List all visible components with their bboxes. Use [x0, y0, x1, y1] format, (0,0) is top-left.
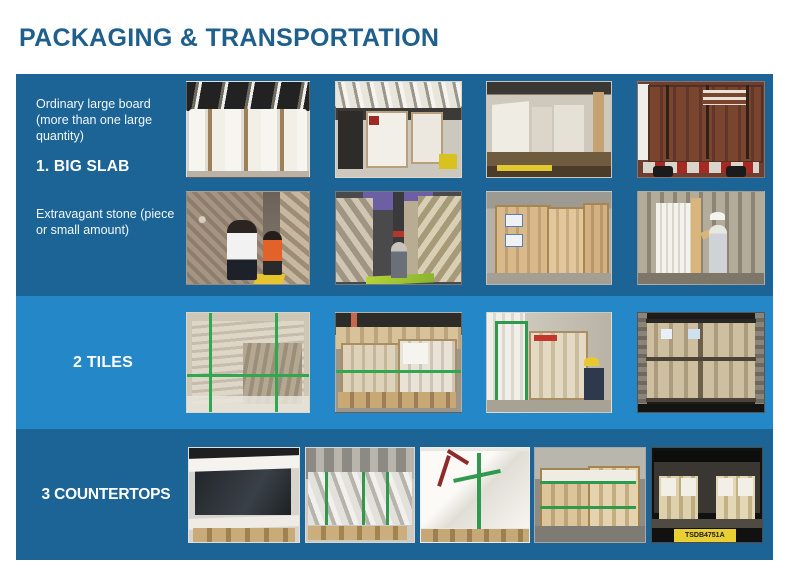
section-countertops: 3 COUNTERTOPS: [16, 429, 773, 560]
photo-row-countertops: TSDB4751A: [188, 429, 763, 560]
photo-container-loaded-countertops[interactable]: TSDB4751A: [651, 447, 763, 543]
photo-slabs-in-loading-shed[interactable]: [335, 81, 462, 178]
photo-container-rear-doors[interactable]: [637, 81, 765, 178]
photo-crated-tiles-pallets[interactable]: [335, 312, 462, 413]
page-title: PACKAGING & TRANSPORTATION: [19, 24, 439, 53]
big-slab-heading: 1. BIG SLAB: [36, 158, 178, 176]
photo-loading-slabs-container[interactable]: [637, 191, 765, 285]
countertops-heading: 3 COUNTERTOPS: [36, 486, 178, 504]
label-column-countertops: 3 COUNTERTOPS: [16, 429, 178, 560]
photo-row-tiles: [186, 296, 765, 429]
label-column-tiles: 2 TILES: [16, 296, 178, 429]
photo-slabs-on-truck-bed[interactable]: [486, 81, 612, 178]
slide-root: PACKAGING & TRANSPORTATION Ordinary larg…: [0, 0, 790, 584]
big-slab-description-2: Extravagant stone (piece or small amount…: [36, 206, 178, 238]
section-big-slab: Ordinary large board (more than one larg…: [16, 74, 773, 296]
photo-workers-inspecting-granite[interactable]: [186, 191, 310, 285]
label-column-big-slab: Ordinary large board (more than one larg…: [16, 74, 178, 296]
tiles-heading: 2 TILES: [36, 354, 178, 372]
photo-wooden-crates-stone[interactable]: [486, 191, 612, 285]
photo-crates-on-pallets[interactable]: [534, 447, 646, 543]
photo-black-countertop-wrapped[interactable]: [188, 447, 300, 543]
container-code-label: TSDB4751A: [676, 531, 733, 540]
big-slab-description-1: Ordinary large board (more than one larg…: [36, 96, 178, 144]
photo-white-slabs-warehouse[interactable]: [186, 81, 310, 178]
photo-row-big-slab-1: [186, 78, 765, 181]
photo-white-wrapped-bundle[interactable]: [420, 447, 530, 543]
content-panel: Ordinary large board (more than one larg…: [16, 74, 773, 560]
photo-strapped-tile-bundle[interactable]: [186, 312, 310, 413]
photo-row-big-slab-2: [186, 188, 765, 288]
photo-loading-crate-container[interactable]: [486, 312, 612, 413]
photo-worker-in-slab-aisle[interactable]: [335, 191, 462, 285]
photo-grey-marble-tops-strapped[interactable]: [305, 447, 415, 543]
photo-container-full-of-crates[interactable]: [637, 312, 765, 413]
section-tiles: 2 TILES: [16, 296, 773, 429]
